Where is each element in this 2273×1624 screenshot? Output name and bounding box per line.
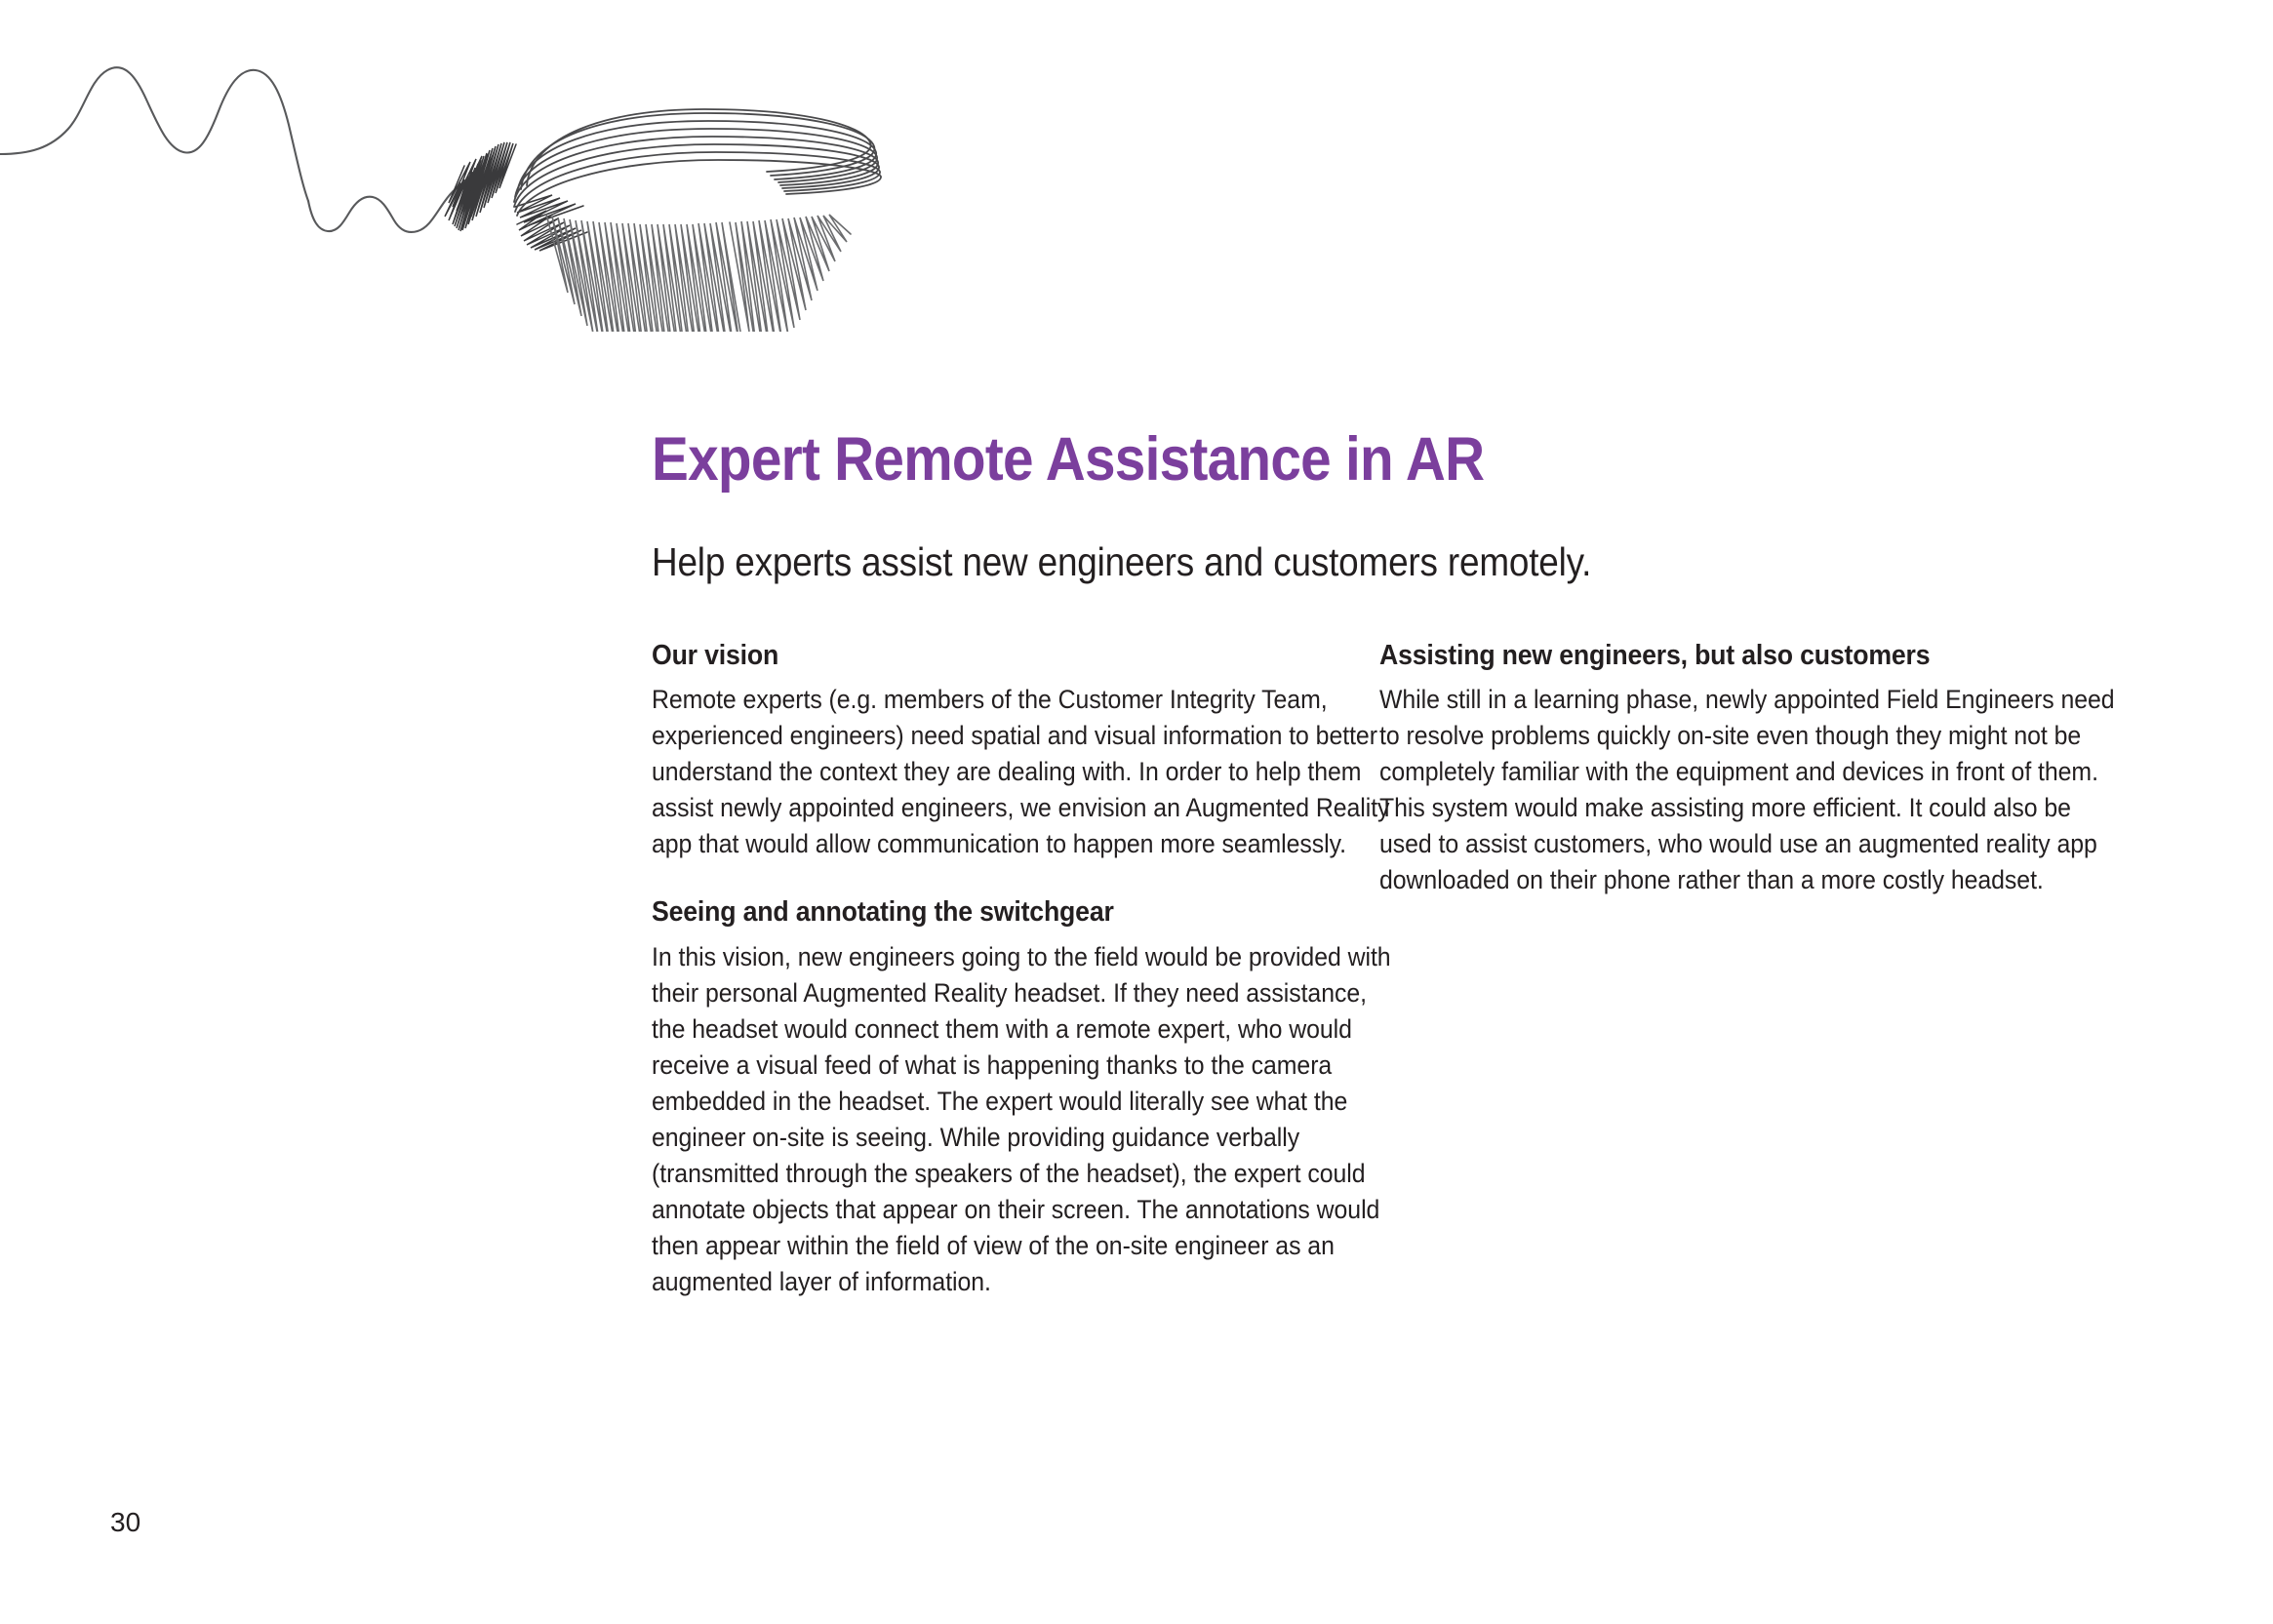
hand-drawn-line-sketch	[0, 39, 976, 332]
content-column-right: Assisting new engineers, but also custom…	[1379, 639, 2121, 898]
content-column-left: Our vision Remote experts (e.g. members …	[652, 639, 1393, 1300]
page-subtitle: Help experts assist new engineers and cu…	[652, 539, 1969, 585]
section-seeing-and-annotating-the-switchgear: Seeing and annotating the switchgear In …	[652, 895, 1393, 1299]
section-heading: Assisting new engineers, but also custom…	[1379, 639, 2061, 673]
section-our-vision: Our vision Remote experts (e.g. members …	[652, 639, 1393, 862]
section-body: Remote experts (e.g. members of the Cust…	[652, 682, 1393, 862]
section-body: In this vision, new engineers going to t…	[652, 939, 1393, 1300]
page-number: 30	[110, 1509, 140, 1536]
document-page: Expert Remote Assistance in AR Help expe…	[0, 0, 2273, 1624]
section-body: While still in a learning phase, newly a…	[1379, 682, 2121, 898]
section-heading: Seeing and annotating the switchgear	[652, 895, 1334, 930]
section-assisting-new-engineers-but-also-customers: Assisting new engineers, but also custom…	[1379, 639, 2121, 898]
page-title: Expert Remote Assistance in AR	[652, 427, 1881, 492]
section-heading: Our vision	[652, 639, 1334, 673]
